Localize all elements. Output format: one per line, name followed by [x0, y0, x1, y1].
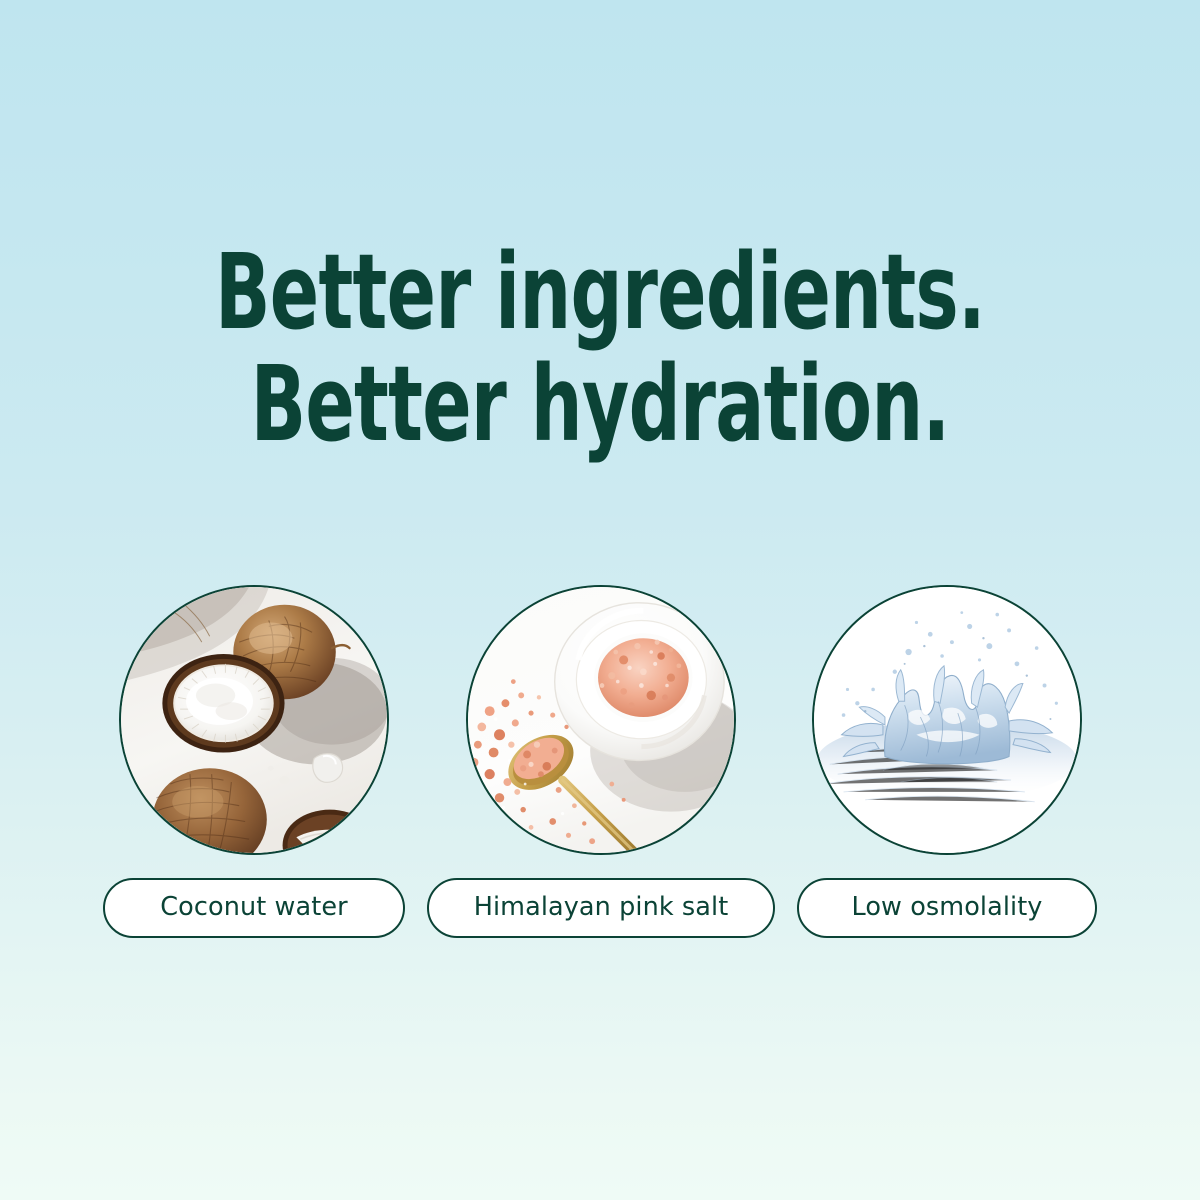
ingredient-card-himalayan-pink-salt[interactable]: Himalayan pink salt [427, 585, 775, 938]
ingredient-card-low-osmolality[interactable]: Low osmolality [797, 585, 1097, 938]
pill-label-coconut-water: Coconut water [160, 895, 347, 921]
headline-line-2: Better hydration. [180, 352, 1020, 456]
pill-coconut-water[interactable]: Coconut water [103, 878, 405, 938]
promo-canvas: Better ingredients. Better hydration. [0, 0, 1200, 1200]
headline-line-1: Better ingredients. [180, 240, 1020, 344]
pill-himalayan-pink-salt[interactable]: Himalayan pink salt [427, 878, 775, 938]
water-splash-photo [812, 585, 1082, 855]
ingredient-card-row: Coconut water [103, 585, 1097, 938]
pink-salt-photo [466, 585, 736, 855]
pill-label-himalayan-pink-salt: Himalayan pink salt [474, 895, 729, 921]
pill-low-osmolality[interactable]: Low osmolality [797, 878, 1097, 938]
coconut-photo [119, 585, 389, 855]
page-title: Better ingredients. Better hydration. [0, 240, 1200, 456]
pill-label-low-osmolality: Low osmolality [851, 895, 1042, 921]
ingredient-card-coconut-water[interactable]: Coconut water [103, 585, 405, 938]
